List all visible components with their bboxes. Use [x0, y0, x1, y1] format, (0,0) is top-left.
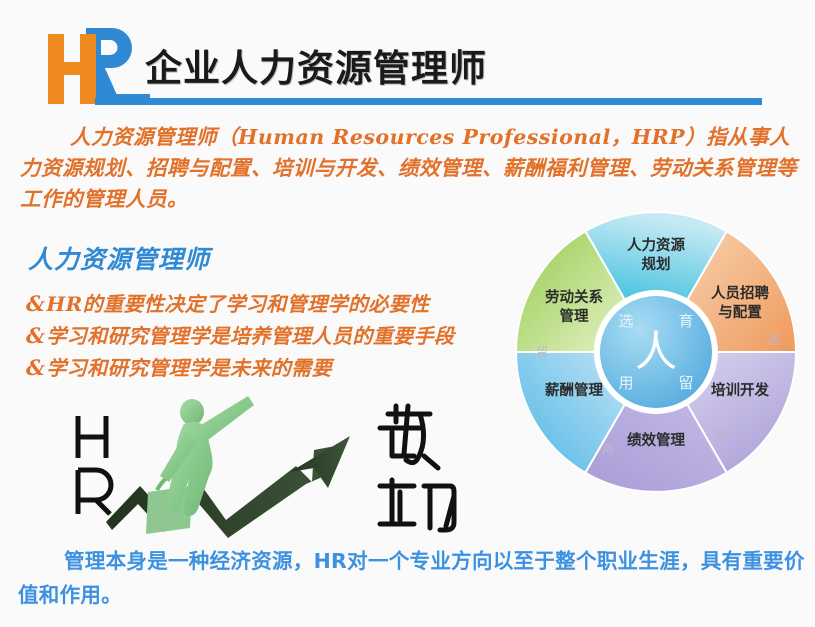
wheel-inner-label-xuan: 选 [618, 312, 633, 330]
hr-functions-wheel: 人 选 育 用 留 人力资源 规划 人员招聘 与配置 培训开发 绩效管理 薪酬管… [510, 208, 802, 496]
hr-success-illustration [28, 392, 468, 542]
wheel-label-compensation: 薪酬管理 [545, 381, 603, 399]
list-item: & HR的重要性决定了学习和管理学的必要性 [26, 288, 526, 320]
footer-paragraph: 管理本身是一种经济资源，HR对一个专业方向以至于整个职业生涯，具有重要价值和作用… [18, 544, 808, 612]
wheel-label-labor-relations-2: 管理 [560, 307, 589, 325]
list-item: & 学习和研究管理学是培养管理人员的重要手段 [26, 320, 526, 352]
list-item-label: 学习和研究管理学是培养管理人员的重要手段 [46, 320, 454, 352]
wheel-inner-label-liu: 留 [678, 374, 693, 392]
list-item-label: 学习和研究管理学是未来的需要 [46, 352, 332, 384]
bullet-marker-icon: & [26, 288, 45, 320]
wheel-label-training: 培训开发 [711, 381, 769, 399]
wheel-label-recruitment-1: 人员招聘 [711, 284, 769, 302]
wheel-center-char: 人 [635, 327, 677, 376]
wheel-boundary-label-yong: 用 [602, 442, 614, 456]
wheel-label-hr-planning-1: 人力资源 [627, 236, 685, 254]
wheel-label-labor-relations-1: 劳动关系 [545, 288, 603, 306]
growth-arrow-icon [106, 436, 350, 538]
list-item: & 学习和研究管理学是未来的需要 [26, 352, 526, 384]
intro-paragraph: 人力资源管理师（Human Resources Professional，HRP… [20, 122, 810, 215]
wheel-label-performance: 绩效管理 [627, 431, 685, 449]
wheel-inner-label-yu: 育 [678, 312, 693, 330]
bullet-marker-icon: & [26, 320, 45, 352]
hr-outline-letters [78, 416, 111, 514]
success-label-outline [380, 406, 454, 530]
wheel-center-char-text: 人 [635, 327, 677, 376]
wheel-boundary-label-xuan: 选 [768, 333, 780, 347]
bullet-marker-icon: & [26, 352, 45, 384]
wheel-label-recruitment-2: 与配置 [718, 304, 762, 321]
header: 企业人力资源管理师 [0, 0, 815, 115]
hr-logo-icon [46, 28, 150, 106]
wheel-label-hr-planning-2: 规划 [642, 255, 671, 273]
bullet-list: & HR的重要性决定了学习和管理学的必要性 & 学习和研究管理学是培养管理人员的… [26, 288, 526, 384]
list-item-label: HR的重要性决定了学习和管理学的必要性 [46, 288, 429, 320]
wheel-inner-label-yong: 用 [618, 374, 633, 392]
page-title: 企业人力资源管理师 [145, 38, 487, 92]
header-divider [95, 98, 762, 105]
wheel-boundary-label-yu: 育 [716, 428, 728, 443]
section-heading: 人力资源管理师 [28, 240, 210, 276]
slide-root: 企业人力资源管理师 人力资源管理师（Human Resources Profes… [0, 0, 815, 627]
wheel-boundary-label-liu: 留 [536, 345, 548, 359]
